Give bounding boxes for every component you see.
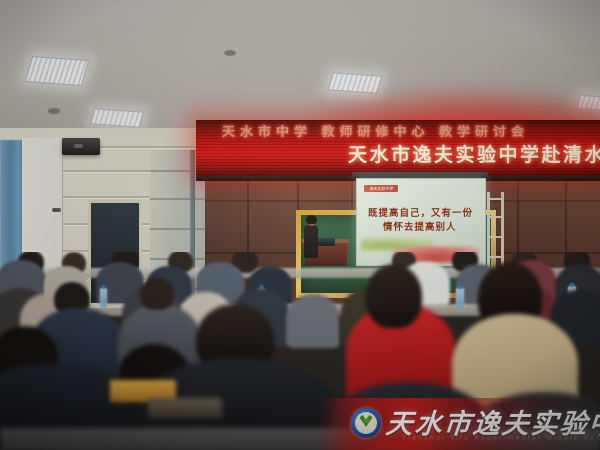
school-emblem-logo bbox=[351, 408, 381, 438]
ceiling-light-panel bbox=[90, 108, 143, 127]
slide-line-2: 情怀去提高别人 bbox=[383, 219, 457, 233]
water-bottle[interactable] bbox=[456, 288, 464, 310]
ceiling-vent bbox=[224, 50, 236, 56]
led-scrolling-banner: 天水市中学 教师研修中心 教学研讨会 天水市逸夫实验中学赴清水教研活动一 bbox=[196, 120, 600, 178]
presenter-hair bbox=[306, 215, 317, 224]
water-bottle[interactable] bbox=[100, 288, 107, 308]
emblem-arc bbox=[354, 422, 378, 436]
audience-person bbox=[286, 294, 340, 348]
ceiling-light-panel bbox=[25, 56, 89, 86]
projector-lens bbox=[74, 144, 83, 148]
photograph-conference-hall: 天水市中学 教师研修中心 教学研讨会 天水市逸夫实验中学赴清水教研活动一 逸夫实… bbox=[0, 0, 600, 450]
slide-badge-text: 逸夫实验中学 bbox=[364, 185, 398, 192]
slide-line-1: 既提高自己，又有一份 bbox=[368, 205, 473, 219]
slide-badge: 逸夫实验中学 bbox=[364, 185, 398, 192]
audience-head-long-hair bbox=[366, 264, 422, 328]
led-banner-top-text: 天水市中学 教师研修中心 教学研讨会 bbox=[222, 122, 529, 139]
watermark-subtitle: Tianshui Yifu Experimental Middle School bbox=[402, 435, 600, 442]
laptop-on-podium bbox=[318, 238, 335, 246]
audience-head bbox=[140, 278, 174, 310]
watermark-overlay: 天水市逸夫实验中学 Tianshui Yifu Experimental Mid… bbox=[318, 398, 600, 450]
desk-foreground bbox=[148, 398, 222, 418]
door-handle[interactable] bbox=[52, 208, 61, 212]
led-banner-main-text: 天水市逸夫实验中学赴清水教研活动一 bbox=[348, 140, 600, 167]
ceiling-mounted-projector bbox=[62, 138, 100, 155]
ceiling-vent bbox=[48, 108, 60, 114]
